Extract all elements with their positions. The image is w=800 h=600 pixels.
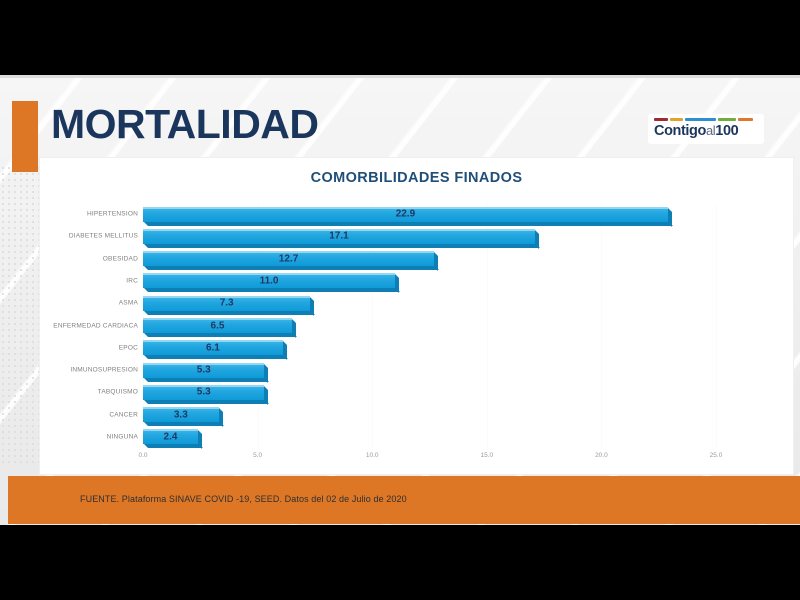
chart-bar-right-face [395,274,399,293]
screenshot-stage: MORTALIDAD Contigoal100 COMORBILIDADES F… [0,0,800,600]
chart-bar-value-label: 7.3 [220,298,234,309]
chart-bar-right-face [668,208,672,227]
chart-bar-bottom-face [144,222,673,226]
chart-bar-right-face [292,319,296,338]
chart-bar-bottom-face [144,244,540,248]
chart-x-tick-label: 25.0 [710,452,723,459]
chart-bar-right-face [198,430,202,449]
source-footer-bar: FUENTE. Plataforma SINAVE COVID -19, SEE… [8,476,800,524]
chart-bar-value-label: 17.1 [329,231,348,242]
chart-bar-row: 5.3 [143,363,716,382]
chart-x-gridline [716,203,717,448]
logo-color-dashes [654,118,758,122]
logo-dash-gold [670,118,683,121]
chart-category-label: TABQUISMO [40,389,138,396]
chart-x-tick-label: 15.0 [480,452,493,459]
chart-bar-row: 2.4 [143,429,716,448]
chart-bar-bottom-face [144,355,288,359]
chart-bar-row: 12.7 [143,251,716,270]
chart-category-label: ASMA [40,300,138,307]
chart-bar-row: 5.3 [143,385,716,404]
chart-category-label: DIABETES MELLITUS [40,233,138,240]
chart-x-tick-label: 20.0 [595,452,608,459]
chart-bar-value-label: 11.0 [260,275,279,286]
title-accent-bar [12,101,38,172]
logo-dash-green [718,118,736,121]
chart-bar-value-label: 6.5 [211,320,225,331]
logo-word-contigo: Contigo [654,123,706,139]
chart-bar-right-face [264,364,268,383]
chart-category-axis: HIPERTENSIONDIABETES MELLITUSOBESIDADIRC… [40,203,138,448]
chart-bar-value-label: 3.3 [174,409,188,420]
slide-top-divider [0,75,800,78]
chart-bar-row: 22.9 [143,207,716,226]
logo-word-al: al [706,123,715,138]
chart-bar-bottom-face [144,400,269,404]
chart-bar-bottom-face [144,311,315,315]
chart-bar-right-face [535,230,539,249]
chart-bar-row: 17.1 [143,229,716,248]
chart-bar-value-label: 6.1 [206,342,220,353]
chart-bar-value-label: 2.4 [164,431,178,442]
chart-bar-right-face [434,252,438,271]
contigo-al-100-logo: Contigoal100 [648,114,764,144]
logo-dash-maroon [654,118,668,121]
page-title: MORTALIDAD [51,104,319,145]
chart-category-label: ENFERMEDAD CARDIACA [40,322,138,329]
chart-bar-row: 6.5 [143,318,716,337]
chart-bar-bottom-face [144,333,297,337]
logo-word-100: 100 [715,123,738,139]
chart-bar-bottom-face [144,422,224,426]
chart-x-tick-label: 0.0 [138,452,147,459]
chart-bar-value-label: 22.9 [396,209,415,220]
chart-category-label: HIPERTENSION [40,211,138,218]
chart-bar-bottom-face [144,444,203,448]
chart-panel: COMORBILIDADES FINADOS HIPERTENSIONDIABE… [40,158,793,474]
chart-bar-value-label: 12.7 [279,253,298,264]
chart-plot-area: 0.05.010.015.020.025.0 22.917.112.711.07… [143,203,716,448]
chart-category-label: OBESIDAD [40,255,138,262]
chart-bar-right-face [310,297,314,316]
chart-category-label: CANCER [40,411,138,418]
chart-bar-bottom-face [144,288,400,292]
chart-bar-right-face [264,386,268,405]
chart-bar-row: 6.1 [143,340,716,359]
chart-bar-value-label: 5.3 [197,365,211,376]
chart-category-label: NINGUNA [40,433,138,440]
chart-bar-row: 3.3 [143,407,716,426]
chart-category-label: EPOC [40,344,138,351]
chart-x-tick-label: 10.0 [366,452,379,459]
logo-dash-blue [685,118,716,121]
chart-bar-row: 11.0 [143,273,716,292]
chart-title: COMORBILIDADES FINADOS [40,170,793,186]
chart-bar-value-label: 5.3 [197,387,211,398]
source-footer-text: FUENTE. Plataforma SINAVE COVID -19, SEE… [80,494,407,504]
logo-dash-orange [738,118,753,121]
chart-bar-row: 7.3 [143,296,716,315]
chart-bar-bottom-face [144,266,439,270]
logo-wordmark: Contigoal100 [654,124,758,139]
chart-bar-bottom-face [144,378,269,382]
chart-category-label: INMUNOSUPRESION [40,367,138,374]
chart-x-tick-label: 5.0 [253,452,262,459]
chart-category-label: IRC [40,277,138,284]
